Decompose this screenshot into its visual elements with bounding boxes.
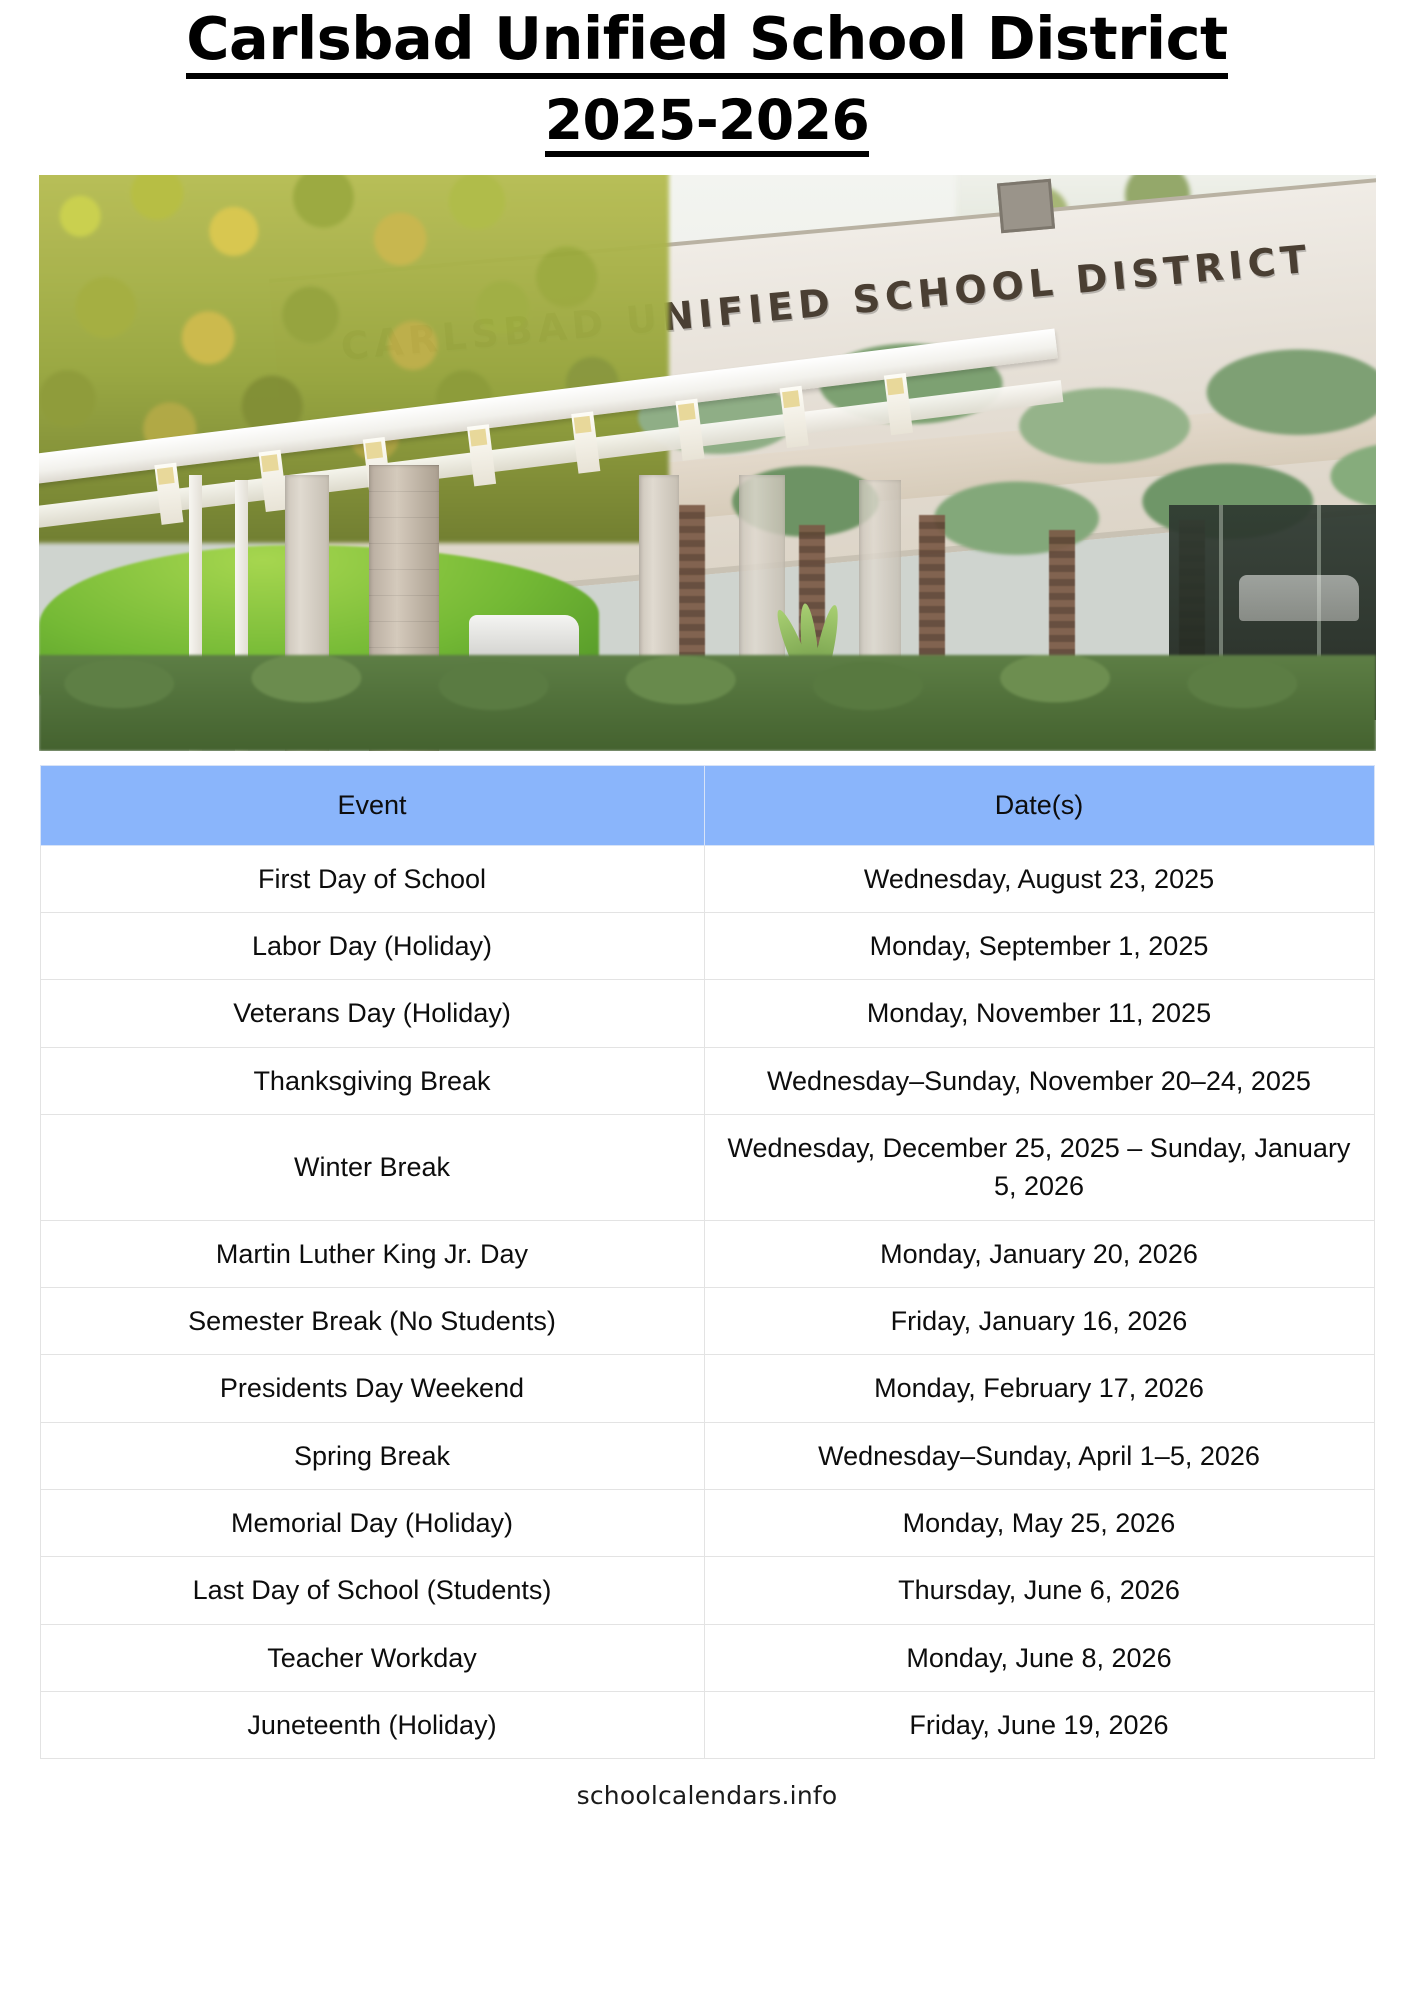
cell-event: Semester Break (No Students) [40,1288,704,1355]
roof-vent [996,179,1054,234]
table-row: Teacher WorkdayMonday, June 8, 2026 [40,1624,1374,1691]
pergola-slat [779,386,808,448]
hedge-row [39,655,1376,751]
cell-date: Monday, November 11, 2025 [704,980,1374,1047]
table-row: Spring BreakWednesday–Sunday, April 1–5,… [40,1422,1374,1489]
column-header-dates: Date(s) [704,765,1374,845]
pergola-slat [883,373,912,435]
cell-date: Wednesday, December 25, 2025 – Sunday, J… [704,1115,1374,1221]
source-footer: schoolcalendars.info [0,1781,1414,1810]
page-title-line-2: 2025-2026 [545,91,869,157]
cell-event: Presidents Day Weekend [40,1355,704,1422]
page-title-line-1: Carlsbad Unified School District [186,8,1228,79]
cell-event: Teacher Workday [40,1624,704,1691]
cell-event: First Day of School [40,845,704,912]
page-title: Carlsbad Unified School District 2025-20… [0,0,1414,157]
cell-date: Wednesday, August 23, 2025 [704,845,1374,912]
table-row: Labor Day (Holiday)Monday, September 1, … [40,913,1374,980]
pergola-slat [466,424,495,486]
photo-scene: CARLSBAD UNIFIED SCHOOL DISTRICT [39,175,1376,751]
cell-date: Monday, September 1, 2025 [704,913,1374,980]
pergola-slat [571,411,600,473]
table-row: Last Day of School (Students)Thursday, J… [40,1557,1374,1624]
cell-date: Friday, June 19, 2026 [704,1692,1374,1759]
table-row: Presidents Day WeekendMonday, February 1… [40,1355,1374,1422]
table-header-row: Event Date(s) [40,765,1374,845]
cell-date: Friday, January 16, 2026 [704,1288,1374,1355]
table-row: First Day of SchoolWednesday, August 23,… [40,845,1374,912]
cell-date: Monday, May 25, 2026 [704,1490,1374,1557]
cell-event: Spring Break [40,1422,704,1489]
cell-event: Memorial Day (Holiday) [40,1490,704,1557]
table-row: Memorial Day (Holiday)Monday, May 25, 20… [40,1490,1374,1557]
table-row: Winter BreakWednesday, December 25, 2025… [40,1115,1374,1221]
school-calendar-table: Event Date(s) First Day of SchoolWednesd… [40,765,1375,1760]
cell-event: Winter Break [40,1115,704,1221]
cell-event: Thanksgiving Break [40,1047,704,1114]
table-row: Thanksgiving BreakWednesday–Sunday, Nove… [40,1047,1374,1114]
parked-car-reflection [1239,575,1359,621]
pergola-slat [258,450,287,512]
cell-event: Martin Luther King Jr. Day [40,1220,704,1287]
district-building-photo: CARLSBAD UNIFIED SCHOOL DISTRICT [39,175,1376,751]
cell-date: Wednesday–Sunday, April 1–5, 2026 [704,1422,1374,1489]
cell-date: Wednesday–Sunday, November 20–24, 2025 [704,1047,1374,1114]
cell-date: Monday, February 17, 2026 [704,1355,1374,1422]
cell-event: Veterans Day (Holiday) [40,980,704,1047]
cell-event: Labor Day (Holiday) [40,913,704,980]
table-row: Juneteenth (Holiday)Friday, June 19, 202… [40,1692,1374,1759]
cell-date: Monday, June 8, 2026 [704,1624,1374,1691]
pergola-slat [154,462,183,524]
pergola-slat [675,398,704,460]
table-row: Semester Break (No Students)Friday, Janu… [40,1288,1374,1355]
cell-event: Last Day of School (Students) [40,1557,704,1624]
cell-date: Monday, January 20, 2026 [704,1220,1374,1287]
table-row: Veterans Day (Holiday)Monday, November 1… [40,980,1374,1047]
table-row: Martin Luther King Jr. DayMonday, Januar… [40,1220,1374,1287]
cell-date: Thursday, June 6, 2026 [704,1557,1374,1624]
table-body: First Day of SchoolWednesday, August 23,… [40,845,1374,1759]
cell-event: Juneteenth (Holiday) [40,1692,704,1759]
column-header-event: Event [40,765,704,845]
